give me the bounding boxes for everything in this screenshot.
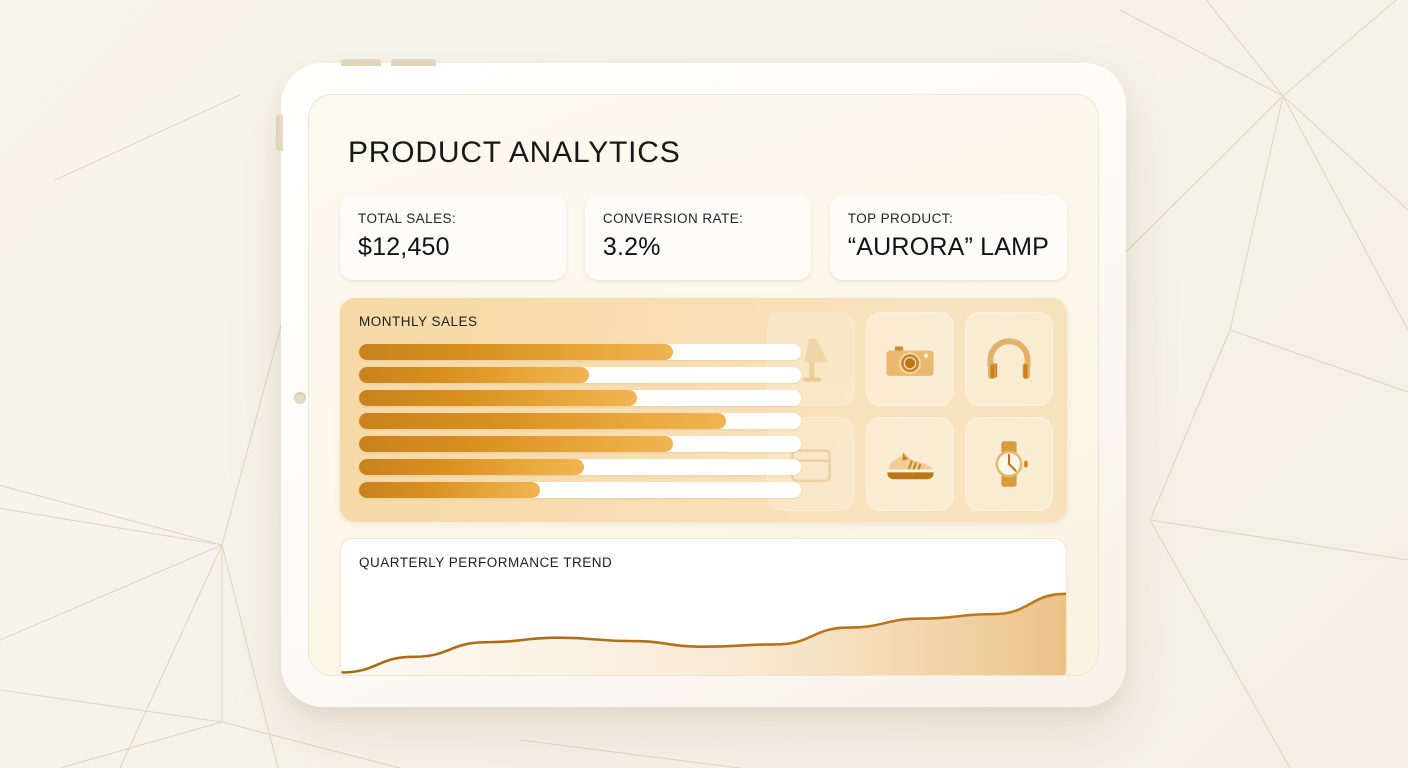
stat-card-row: TOTAL SALES: $12,450 CONVERSION RATE: 3.… xyxy=(340,195,1067,280)
bar-row[interactable] xyxy=(359,459,801,475)
sneaker-icon xyxy=(883,437,937,491)
bar-row[interactable] xyxy=(359,344,801,360)
power-button[interactable] xyxy=(276,115,283,151)
stat-card-total-sales[interactable]: TOTAL SALES: $12,450 xyxy=(340,195,566,280)
product-icon-grid xyxy=(767,312,1053,511)
bar-row[interactable] xyxy=(359,482,801,498)
tablet-screen: PRODUCT ANALYTICS TOTAL SALES: $12,450 C… xyxy=(308,94,1099,676)
watch-icon xyxy=(982,437,1036,491)
stat-card-conversion-rate[interactable]: CONVERSION RATE: 3.2% xyxy=(585,195,811,280)
bar-fill xyxy=(359,482,540,498)
stat-label: TOTAL SALES: xyxy=(358,211,548,226)
volume-up-button[interactable] xyxy=(341,59,381,66)
quarterly-trend-panel: QUARTERLY PERFORMANCE TREND xyxy=(340,538,1067,676)
bar-fill xyxy=(359,436,673,452)
stat-label: CONVERSION RATE: xyxy=(603,211,793,226)
bar-fill xyxy=(359,459,584,475)
stat-label: TOP PRODUCT: xyxy=(848,211,1049,226)
front-camera-icon xyxy=(294,392,306,404)
monthly-sales-title: MONTHLY SALES xyxy=(359,314,478,329)
stat-value: 3.2% xyxy=(603,233,793,262)
headphones-icon xyxy=(982,332,1036,386)
bar-row[interactable] xyxy=(359,390,801,406)
monthly-sales-panel: MONTHLY SALES xyxy=(340,298,1067,522)
volume-down-button[interactable] xyxy=(391,59,436,66)
quarterly-trend-title: QUARTERLY PERFORMANCE TREND xyxy=(359,555,612,570)
stat-value: “AURORA” LAMP xyxy=(848,233,1049,262)
product-tile-sneaker[interactable] xyxy=(866,417,954,511)
bar-fill xyxy=(359,390,637,406)
page-title: PRODUCT ANALYTICS xyxy=(348,136,1067,170)
product-tile-watch[interactable] xyxy=(965,417,1053,511)
stat-value: $12,450 xyxy=(358,233,548,262)
monthly-sales-bars xyxy=(359,344,801,505)
product-tile-camera[interactable] xyxy=(866,312,954,406)
bar-row[interactable] xyxy=(359,413,801,429)
tablet-device: PRODUCT ANALYTICS TOTAL SALES: $12,450 C… xyxy=(281,63,1126,707)
bar-fill xyxy=(359,367,589,383)
stat-card-top-product[interactable]: TOP PRODUCT: “AURORA” LAMP xyxy=(830,195,1067,280)
bar-fill xyxy=(359,413,726,429)
bar-fill xyxy=(359,344,673,360)
trend-area-fill xyxy=(341,594,1066,676)
camera-icon xyxy=(883,332,937,386)
product-tile-headphones[interactable] xyxy=(965,312,1053,406)
bar-row[interactable] xyxy=(359,436,801,452)
bar-row[interactable] xyxy=(359,367,801,383)
